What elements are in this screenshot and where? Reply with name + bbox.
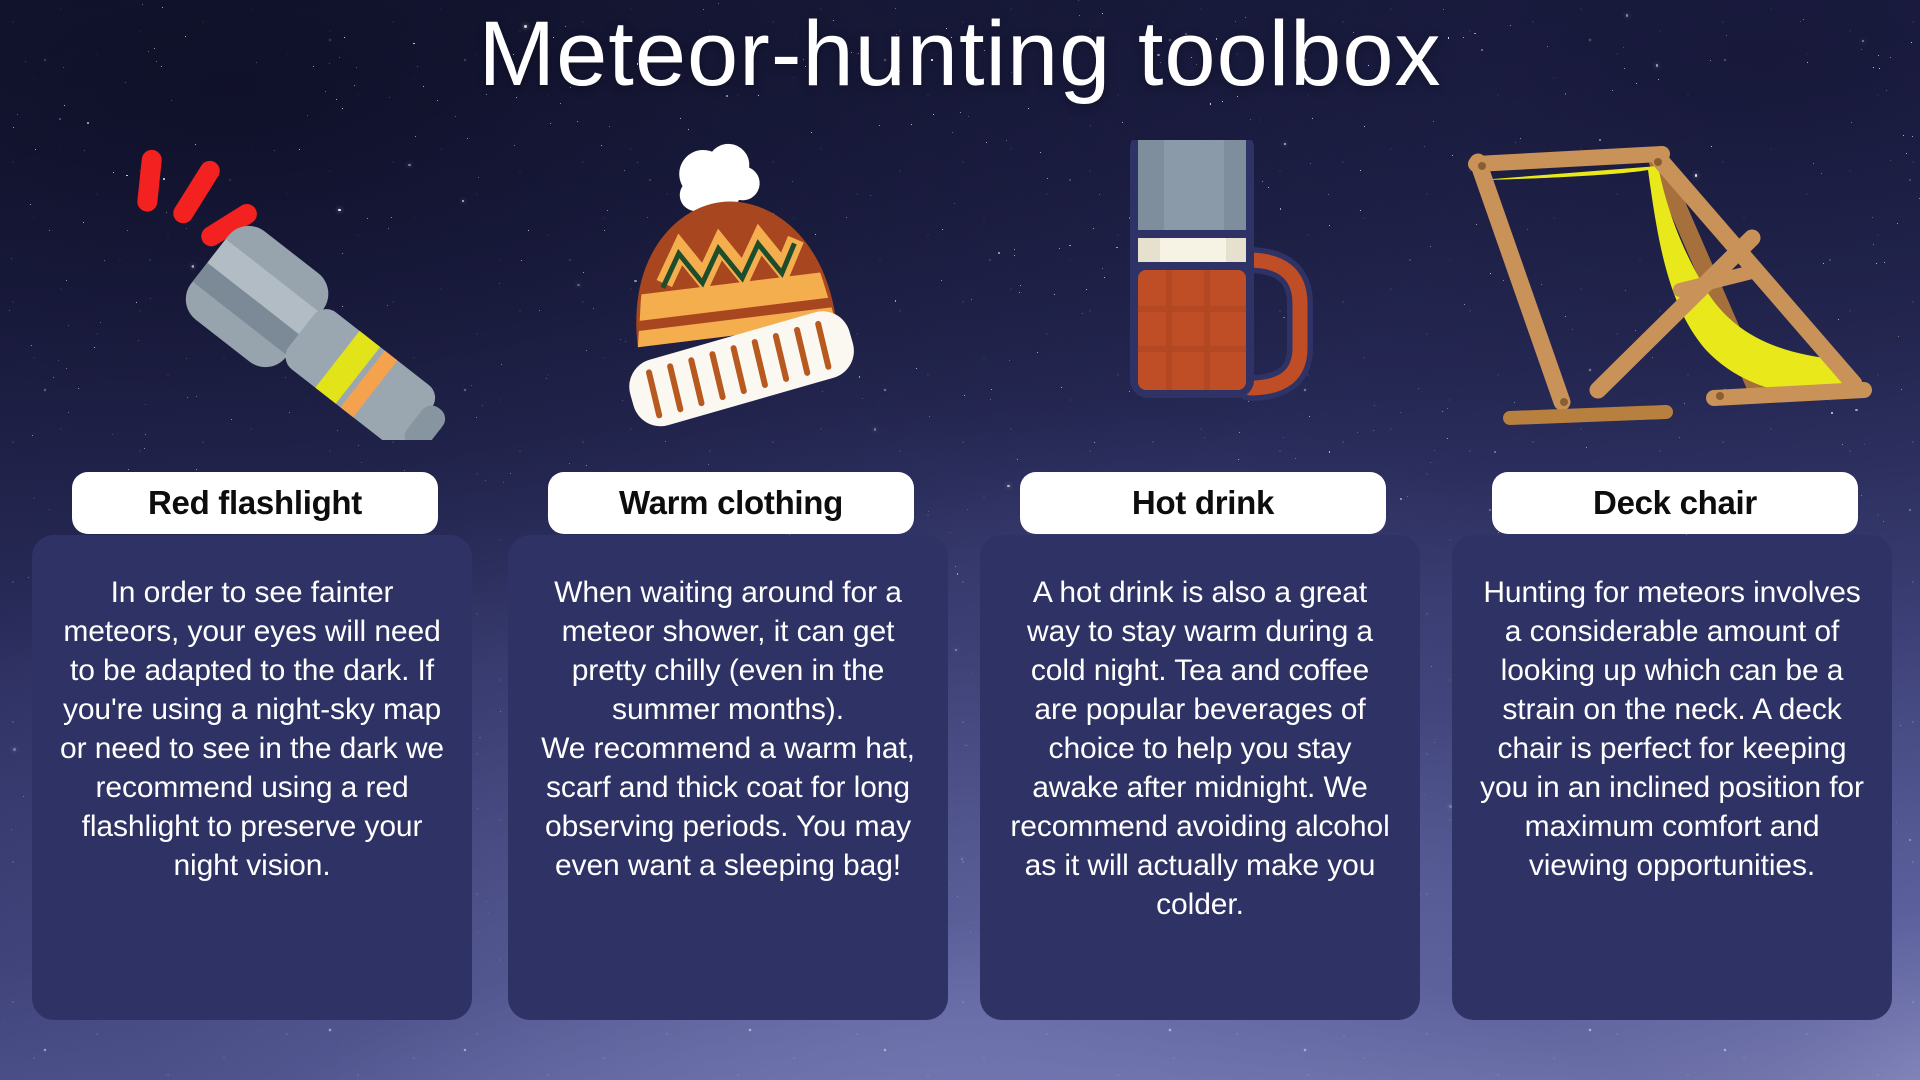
toolbox-column-warm-clothing: Warm clothing When waiting around for a …: [508, 0, 948, 1080]
card-body-text: When waiting around for a meteor shower,…: [534, 573, 922, 885]
card-red-flashlight: In order to see fainter meteors, your ey…: [32, 535, 472, 1020]
card-heading-pill: Red flashlight: [72, 472, 438, 534]
card-heading-pill: Deck chair: [1492, 472, 1858, 534]
card-warm-clothing: When waiting around for a meteor shower,…: [508, 535, 948, 1020]
toolbox-column-red-flashlight: Red flashlight In order to see fainter m…: [32, 0, 472, 1080]
card-hot-drink: A hot drink is also a great way to stay …: [980, 535, 1420, 1020]
toolbox-column-hot-drink: Hot drink A hot drink is also a great wa…: [980, 0, 1420, 1080]
card-deck-chair: Hunting for meteors involves a considera…: [1452, 535, 1892, 1020]
winter-bobble-hat-icon: [508, 140, 948, 440]
card-heading-label: Warm clothing: [619, 484, 843, 522]
red-flashlight-icon: [32, 140, 472, 440]
card-heading-pill: Warm clothing: [548, 472, 914, 534]
card-body-text: In order to see fainter meteors, your ey…: [58, 573, 446, 885]
card-heading-pill: Hot drink: [1020, 472, 1386, 534]
card-heading-label: Red flashlight: [148, 484, 362, 522]
page-title: Meteor-hunting toolbox: [0, 6, 1920, 103]
thermos-flask-icon: [980, 140, 1420, 440]
deck-chair-icon: [1452, 140, 1892, 440]
card-heading-label: Deck chair: [1593, 484, 1757, 522]
card-body-text: Hunting for meteors involves a considera…: [1478, 573, 1866, 885]
toolbox-column-deck-chair: Deck chair Hunting for meteors involves …: [1452, 0, 1892, 1080]
card-body-text: A hot drink is also a great way to stay …: [1006, 573, 1394, 924]
toolbox-columns: Red flashlight In order to see fainter m…: [0, 0, 1920, 1080]
card-heading-label: Hot drink: [1132, 484, 1274, 522]
